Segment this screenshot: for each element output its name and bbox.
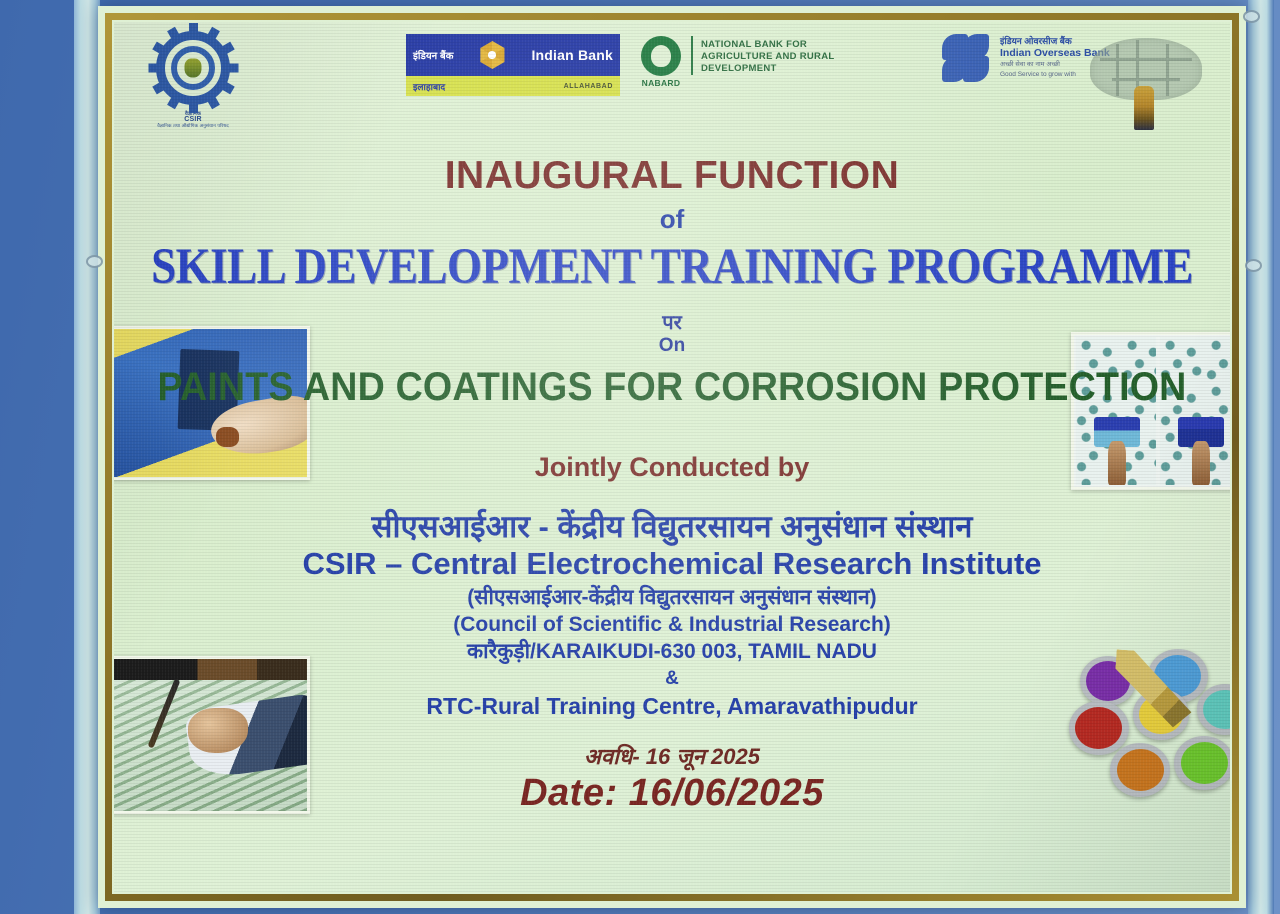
rtc-tree-logo <box>1084 30 1208 136</box>
nabard-line3: DEVELOPMENT <box>701 63 834 75</box>
event-date: Date: 16/06/2025 <box>114 770 1230 816</box>
iob-diamond-icon <box>942 34 992 86</box>
institute-name-english: CSIR – Central Electrochemical Research … <box>114 546 1230 582</box>
duration-hindi: अवधि- 16 जून 2025 <box>114 743 1230 770</box>
banner-grommet-top-right <box>1243 10 1260 23</box>
photographed-banner-scene: वैज्ञानिक CSIR वैज्ञानिक तथा औद्योगिक अन… <box>0 0 1280 914</box>
nabard-line1: NATIONAL BANK FOR <box>701 39 834 51</box>
programme-title: SKILL DEVELOPMENT TRAINING PROGRAMME <box>114 237 1230 295</box>
institute-name-hindi: सीएसआईआर - केंद्रीय विद्युतरसायन अनुसंधा… <box>114 508 1230 546</box>
wall-edge-highlight-right <box>1248 0 1274 914</box>
sponsor-logo-row: वैज्ञानिक CSIR वैज्ञानिक तथा औद्योगिक अन… <box>114 22 1230 140</box>
nabard-wordmark: NABARD <box>638 78 684 88</box>
indian-bank-hexagon-icon <box>478 41 506 69</box>
allahabad-hindi-label: इलाहाबाद <box>413 80 445 93</box>
banner-text-block: INAUGURAL FUNCTION of SKILL DEVELOPMENT … <box>114 140 1230 816</box>
banner-grommet-left <box>86 255 103 268</box>
programme-topic: PAINTS AND COATINGS FOR CORROSION PROTEC… <box>147 365 1196 410</box>
of-connector: of <box>114 204 1230 235</box>
on-connector: On <box>114 335 1230 357</box>
council-line: (Council of Scientific & Industrial Rese… <box>114 611 1230 638</box>
ampersand-connector: & <box>114 666 1230 691</box>
tree-trunk-icon <box>1134 86 1154 130</box>
csir-logo: वैज्ञानिक CSIR वैज्ञानिक तथा औद्योगिक अन… <box>134 26 252 138</box>
event-banner: वैज्ञानिक CSIR वैज्ञानिक तथा औद्योगिक अन… <box>98 6 1246 908</box>
indian-bank-logo: इंडियन बैंक Indian Bank इलाहाबाद ALLAHAB… <box>406 34 620 96</box>
par-hindi-connector: पर <box>114 311 1230 335</box>
partner-organisation: RTC-Rural Training Centre, Amaravathipud… <box>114 691 1230 721</box>
allahabad-english-label: ALLAHABAD <box>564 83 613 90</box>
institute-address: कारैकुड़ी/KARAIKUDI-630 003, TAMIL NADU <box>114 638 1230 666</box>
inaugural-function-heading: INAUGURAL FUNCTION <box>114 154 1230 198</box>
nabard-line2: AGRICULTURE AND RURAL <box>701 51 834 63</box>
csir-caption-line3: वैज्ञानिक तथा औद्योगिक अनुसंधान परिषद <box>134 123 252 129</box>
indian-bank-english-label: Indian Bank <box>531 47 613 63</box>
banner-grommet-right <box>1245 259 1262 272</box>
indian-bank-sub-band: इलाहाबाद ALLAHABAD <box>406 76 620 96</box>
jointly-conducted-by-label: Jointly Conducted by <box>114 452 1230 483</box>
nabard-fullname: NATIONAL BANK FOR AGRICULTURE AND RURAL … <box>691 36 834 75</box>
indian-bank-main-band: इंडियन बैंक Indian Bank <box>406 34 620 76</box>
wall-edge-highlight-left <box>74 0 100 914</box>
nabard-logo: NABARD NATIONAL BANK FOR AGRICULTURE AND… <box>638 36 888 102</box>
csir-cog-icon <box>147 26 239 110</box>
nabard-seal-icon: NABARD <box>638 36 684 88</box>
banner-print-area: वैज्ञानिक CSIR वैज्ञानिक तथा औद्योगिक अन… <box>114 22 1230 892</box>
indian-bank-hindi-label: इंडियन बैंक <box>413 48 453 62</box>
csir-logo-caption: वैज्ञानिक CSIR वैज्ञानिक तथा औद्योगिक अन… <box>134 111 252 129</box>
csir-flame-icon <box>185 59 202 78</box>
institute-name-hindi-paren: (सीएसआईआर-केंद्रीय विद्युतरसायन अनुसंधान… <box>114 584 1230 611</box>
